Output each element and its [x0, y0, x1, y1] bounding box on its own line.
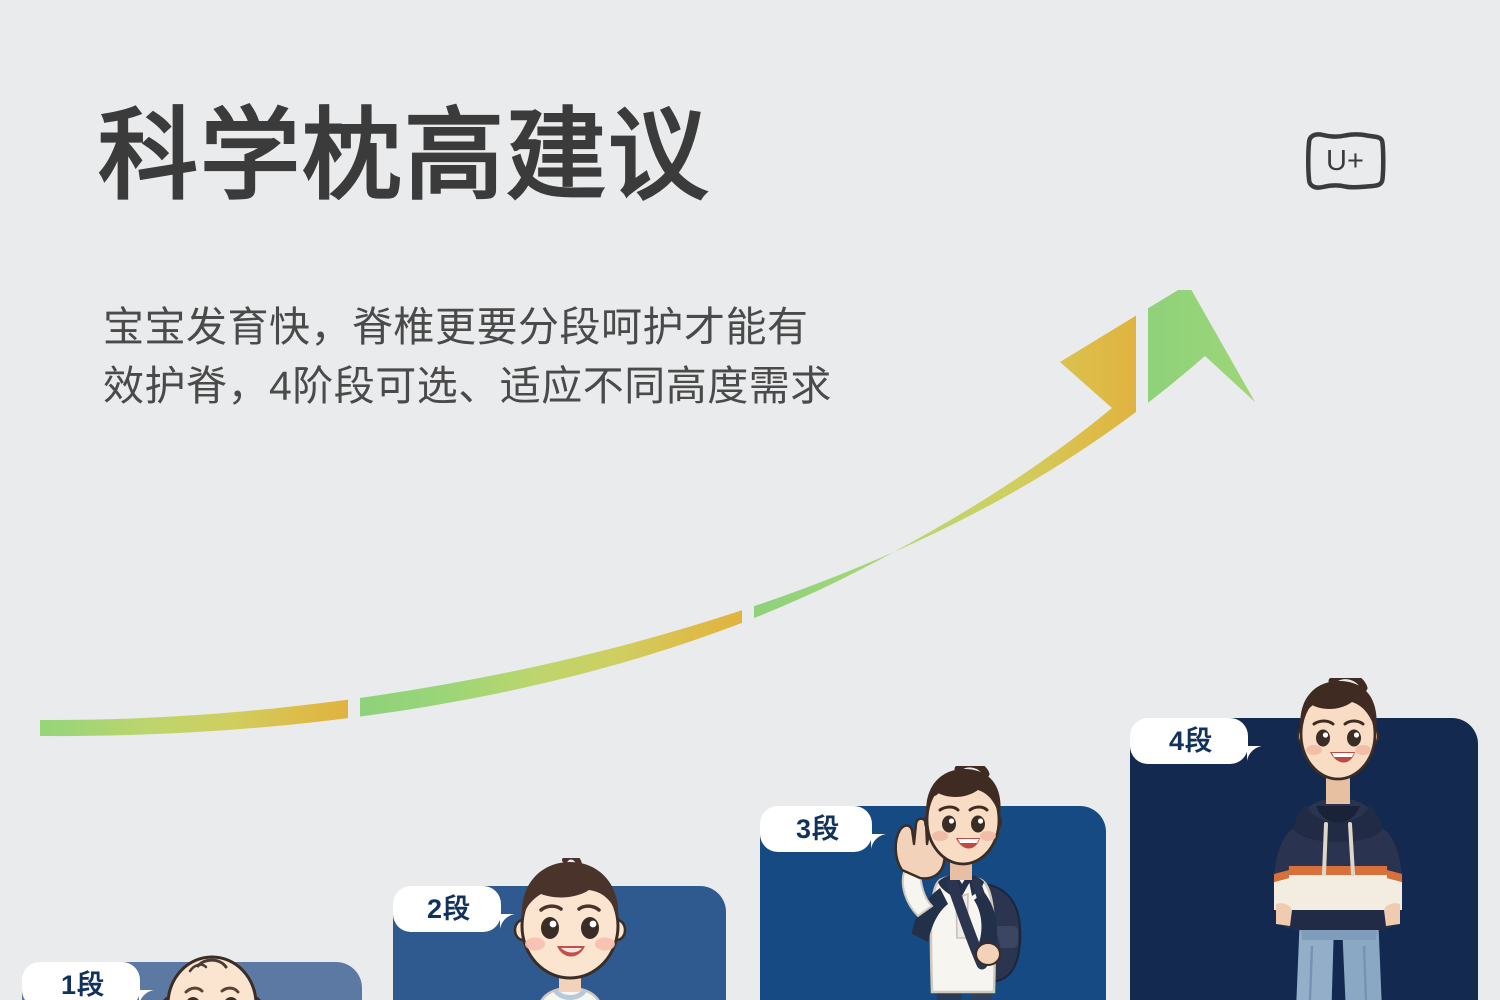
stage-card-4[interactable]: 4段	[1130, 718, 1478, 1000]
stage-card-3[interactable]: 3段	[760, 806, 1106, 1000]
page-title: 科学枕高建议	[98, 104, 710, 209]
stage-2-tab: 2段	[393, 886, 501, 932]
stage-1-tab: 1段	[22, 962, 140, 1000]
figure-teen-boy	[1238, 678, 1436, 1000]
stage-4-label: 4段	[1169, 728, 1213, 755]
figure-baby-infant	[140, 952, 285, 1000]
stage-2-label: 2段	[427, 896, 471, 923]
brand-badge: U+	[1297, 130, 1393, 192]
arrow-body	[0, 290, 1500, 760]
stage-4-tab: 4段	[1130, 718, 1248, 764]
figure-school-boy	[866, 766, 1056, 1000]
stage-card-1[interactable]: 1段	[22, 962, 362, 1000]
growth-arrow	[0, 290, 1500, 760]
brand-label: U+	[1297, 130, 1393, 192]
stage-3-tab: 3段	[760, 806, 872, 852]
stage-card-2[interactable]: 2段	[393, 886, 726, 1000]
poster-canvas: 科学枕高建议 宝宝发育快，脊椎更要分段呵护才能有效护脊，4阶段可选、适应不同高度…	[0, 0, 1500, 1000]
stage-1-label: 1段	[61, 972, 105, 999]
stage-3-label: 3段	[796, 816, 840, 843]
